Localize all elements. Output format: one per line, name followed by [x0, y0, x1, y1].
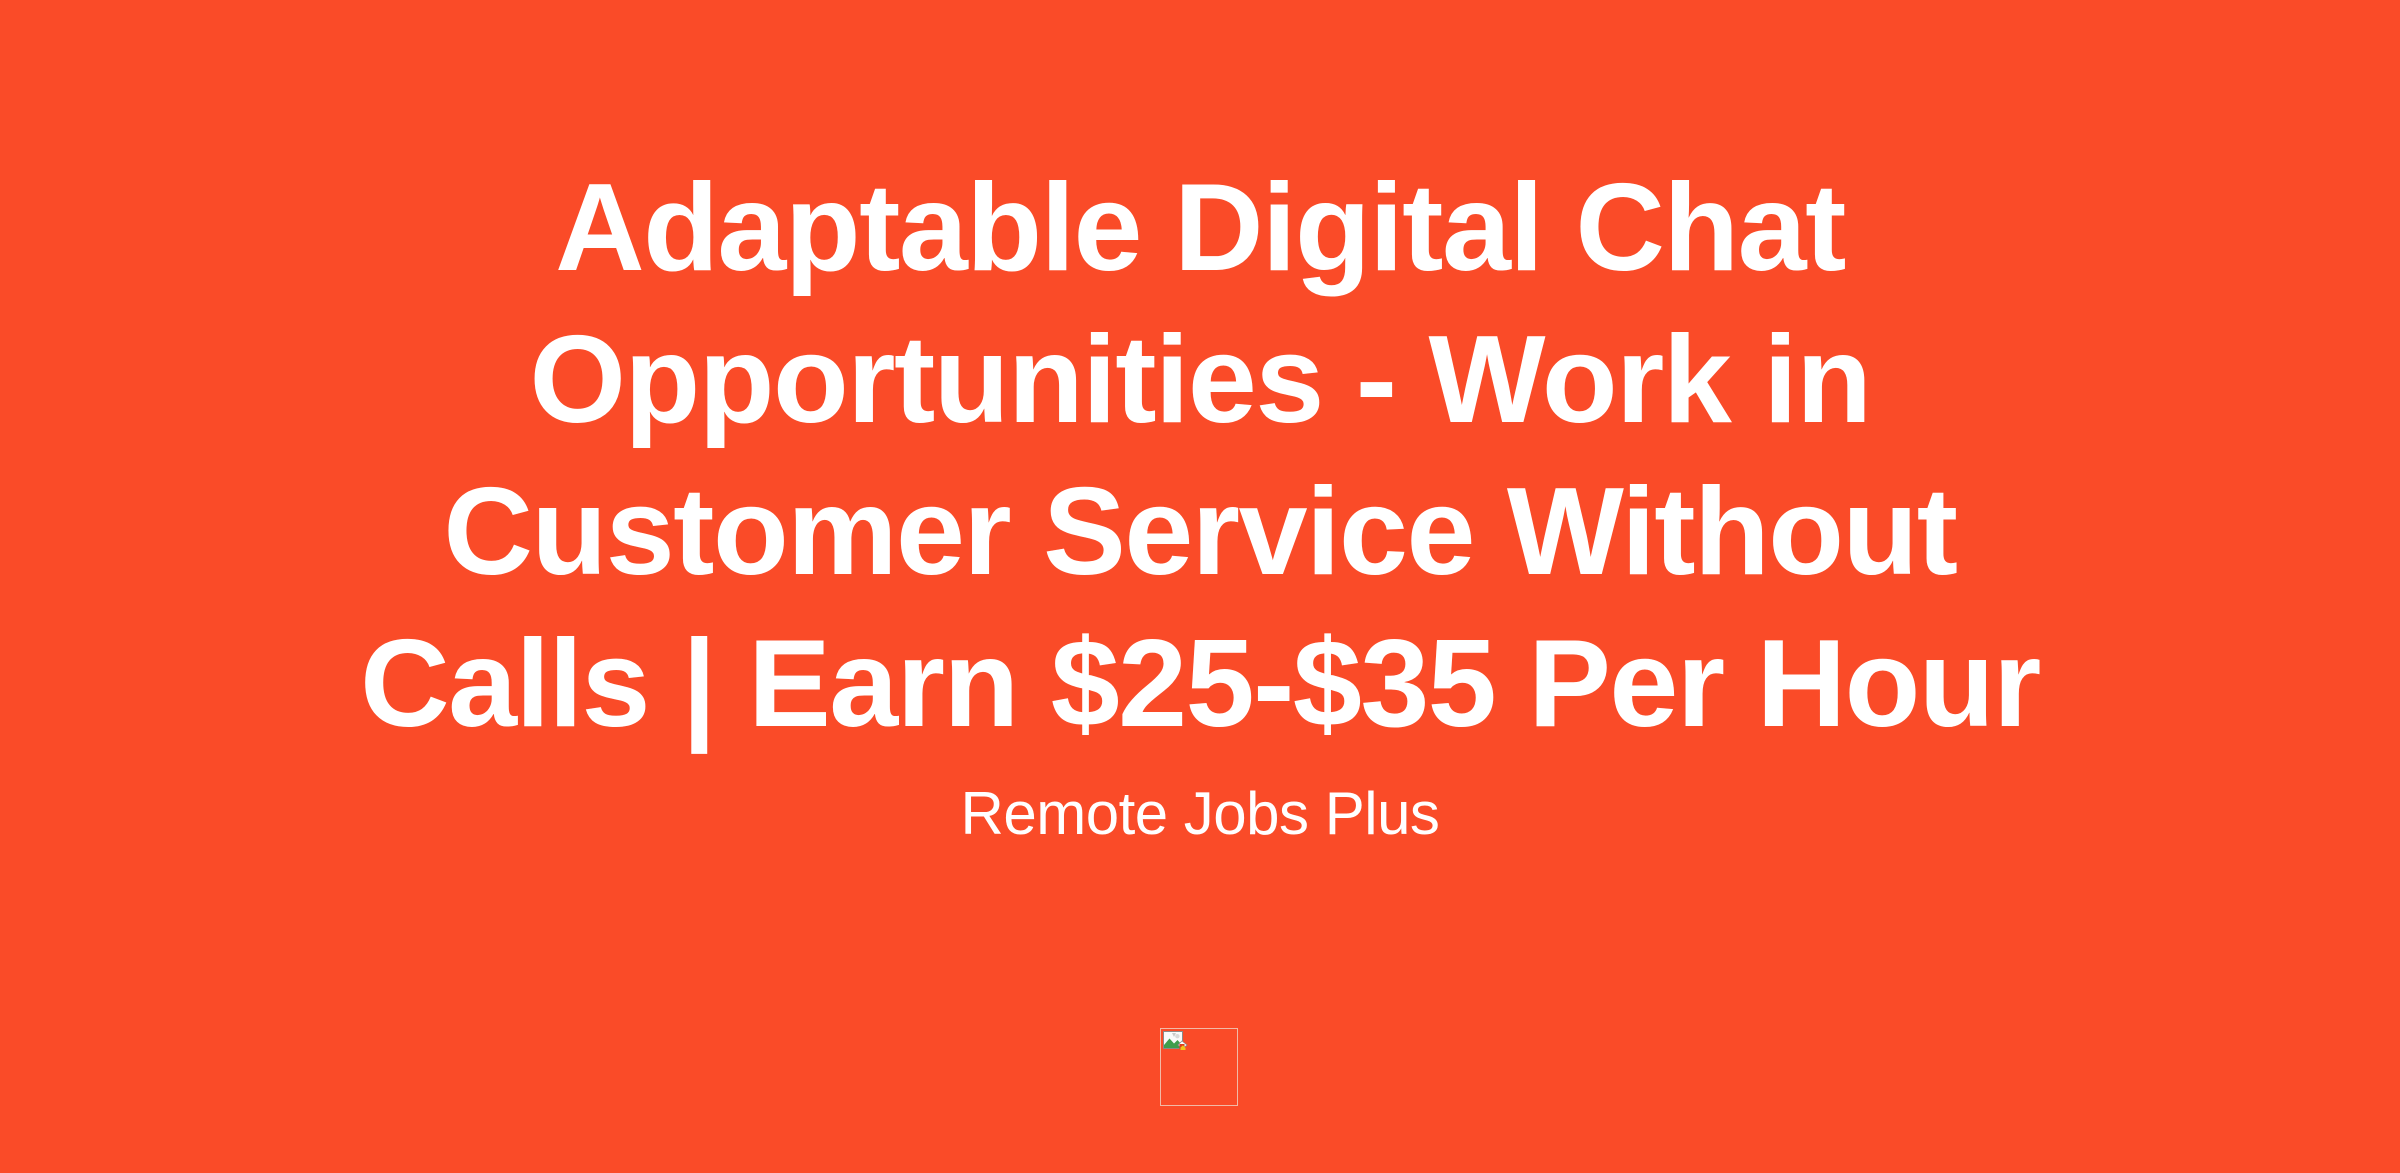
- page-subtitle: Remote Jobs Plus: [360, 778, 2040, 850]
- broken-image-icon: [1163, 1031, 1189, 1055]
- headline-block: Adaptable Digital Chat Opportunities - W…: [360, 152, 2040, 850]
- share-card-canvas: Adaptable Digital Chat Opportunities - W…: [0, 0, 2400, 1173]
- broken-image-placeholder[interactable]: [1160, 1028, 1238, 1106]
- broken-image-container: [1160, 1028, 1238, 1106]
- page-title: Adaptable Digital Chat Opportunities - W…: [360, 152, 2040, 760]
